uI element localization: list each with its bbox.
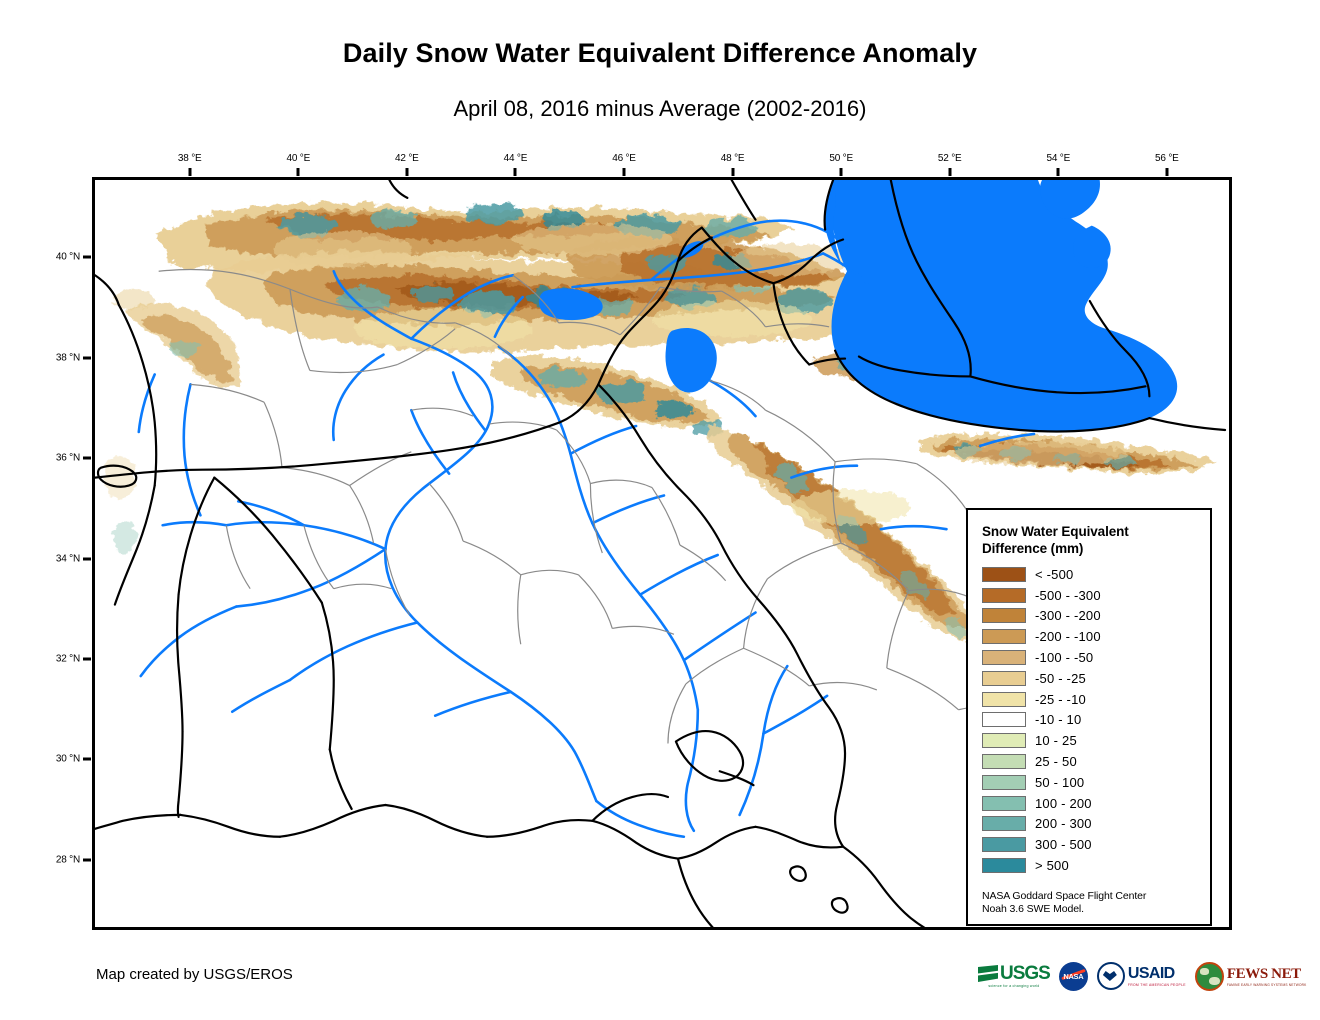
legend-title-line1: Snow Water Equivalent: [982, 523, 1200, 540]
legend-row: -500 - -300: [982, 585, 1200, 606]
legend-label: -500 - -300: [1035, 588, 1101, 603]
latitude-tick: [83, 657, 91, 660]
legend-color-swatch: [982, 816, 1026, 831]
legend-label: -10 - 10: [1035, 712, 1081, 727]
legend-row: -10 - 10: [982, 710, 1200, 731]
page-subtitle: April 08, 2016 minus Average (2002-2016): [0, 96, 1320, 122]
usgs-wave-icon: [978, 965, 998, 982]
usgs-logo-text: USGS: [1000, 964, 1050, 983]
legend-row: -300 - -200: [982, 606, 1200, 627]
usgs-logo-tagline: science for a changing world: [988, 984, 1039, 988]
nasa-logo-text: NASA: [1063, 972, 1083, 981]
legend-color-swatch: [982, 588, 1026, 603]
legend-color-swatch: [982, 754, 1026, 769]
legend-color-swatch: [982, 712, 1026, 727]
longitude-tick: [1057, 168, 1060, 176]
legend-row: -200 - -100: [982, 626, 1200, 647]
latitude-label: 40 °N: [40, 252, 80, 263]
latitude-tick: [83, 256, 91, 259]
legend-color-swatch: [982, 608, 1026, 623]
longitude-label: 46 °E: [612, 153, 636, 164]
longitude-label: 50 °E: [829, 153, 853, 164]
legend-color-swatch: [982, 692, 1026, 707]
longitude-label: 44 °E: [504, 153, 528, 164]
legend-label: 200 - 300: [1035, 816, 1092, 831]
longitude-tick: [514, 168, 517, 176]
longitude-label: 56 °E: [1155, 153, 1179, 164]
legend-label: -25 - -10: [1035, 692, 1086, 707]
usaid-logo-text: USAID: [1128, 965, 1175, 982]
map-credit: Map created by USGS/EROS: [96, 966, 293, 983]
legend-row: -50 - -25: [982, 668, 1200, 689]
legend-row: 50 - 100: [982, 772, 1200, 793]
longitude-label: 54 °E: [1046, 153, 1070, 164]
legend-color-swatch: [982, 629, 1026, 644]
legend-color-swatch: [982, 796, 1026, 811]
usaid-seal-icon: [1097, 962, 1125, 990]
legend-panel: Snow Water Equivalent Difference (mm) < …: [966, 508, 1212, 926]
latitude-label: 36 °N: [40, 453, 80, 464]
legend-row: > 500: [982, 855, 1200, 876]
legend-row: < -500: [982, 564, 1200, 585]
legend-label: -300 - -200: [1035, 608, 1101, 623]
legend-label: < -500: [1035, 567, 1073, 582]
usaid-logo-tagline: FROM THE AMERICAN PEOPLE: [1128, 983, 1186, 987]
legend-label: -100 - -50: [1035, 650, 1093, 665]
legend-label: 50 - 100: [1035, 775, 1084, 790]
page-title: Daily Snow Water Equivalent Difference A…: [0, 38, 1320, 69]
legend-source-note: NASA Goddard Space Flight Center Noah 3.…: [982, 890, 1146, 915]
longitude-tick: [1165, 168, 1168, 176]
legend-color-swatch: [982, 837, 1026, 852]
legend-color-swatch: [982, 671, 1026, 686]
legend-row: 200 - 300: [982, 814, 1200, 835]
fews-logo-text: FEWS NET: [1227, 966, 1301, 982]
legend-color-swatch: [982, 650, 1026, 665]
longitude-tick: [731, 168, 734, 176]
legend-note-line2: Noah 3.6 SWE Model.: [982, 903, 1146, 916]
latitude-tick: [83, 557, 91, 560]
legend-label: -50 - -25: [1035, 671, 1086, 686]
legend-class-list: < -500-500 - -300-300 - -200-200 - -100-…: [982, 564, 1200, 876]
latitude-tick: [83, 457, 91, 460]
longitude-tick: [948, 168, 951, 176]
legend-row: -25 - -10: [982, 689, 1200, 710]
latitude-tick: [83, 356, 91, 359]
legend-row: 300 - 500: [982, 834, 1200, 855]
longitude-tick: [405, 168, 408, 176]
legend-title-line2: Difference (mm): [982, 540, 1200, 557]
latitude-label: 34 °N: [40, 553, 80, 564]
legend-label: 300 - 500: [1035, 837, 1092, 852]
longitude-tick: [297, 168, 300, 176]
longitude-tick: [623, 168, 626, 176]
legend-color-swatch: [982, 733, 1026, 748]
legend-color-swatch: [982, 858, 1026, 873]
nasa-logo: NASA: [1059, 962, 1088, 991]
latitude-tick: [83, 858, 91, 861]
legend-label: > 500: [1035, 858, 1069, 873]
longitude-label: 42 °E: [395, 153, 419, 164]
usgs-logo: USGS science for a changing world: [978, 959, 1050, 993]
legend-row: 100 - 200: [982, 793, 1200, 814]
legend-row: -100 - -50: [982, 647, 1200, 668]
longitude-tick: [188, 168, 191, 176]
legend-color-swatch: [982, 775, 1026, 790]
legend-title: Snow Water Equivalent Difference (mm): [982, 523, 1200, 557]
latitude-label: 38 °N: [40, 352, 80, 363]
longitude-label: 40 °E: [286, 153, 310, 164]
legend-label: 25 - 50: [1035, 754, 1077, 769]
fews-net-logo: FEWS NET FAMINE EARLY WARNING SYSTEMS NE…: [1195, 959, 1307, 993]
latitude-label: 30 °N: [40, 754, 80, 765]
usaid-logo: USAID FROM THE AMERICAN PEOPLE: [1097, 959, 1186, 993]
legend-label: 10 - 25: [1035, 733, 1077, 748]
legend-color-swatch: [982, 567, 1026, 582]
fews-globe-icon: [1195, 962, 1224, 991]
longitude-label: 38 °E: [178, 153, 202, 164]
fews-logo-tagline: FAMINE EARLY WARNING SYSTEMS NETWORK: [1227, 983, 1307, 987]
legend-row: 10 - 25: [982, 730, 1200, 751]
agency-logo-strip: USGS science for a changing world NASA U…: [978, 957, 1306, 995]
latitude-tick: [83, 758, 91, 761]
legend-row: 25 - 50: [982, 751, 1200, 772]
longitude-label: 48 °E: [721, 153, 745, 164]
legend-label: 100 - 200: [1035, 796, 1092, 811]
latitude-label: 28 °N: [40, 854, 80, 865]
legend-note-line1: NASA Goddard Space Flight Center: [982, 890, 1146, 903]
longitude-tick: [840, 168, 843, 176]
longitude-label: 52 °E: [938, 153, 962, 164]
latitude-label: 32 °N: [40, 653, 80, 664]
map-page: Daily Snow Water Equivalent Difference A…: [0, 0, 1320, 1020]
legend-label: -200 - -100: [1035, 629, 1101, 644]
